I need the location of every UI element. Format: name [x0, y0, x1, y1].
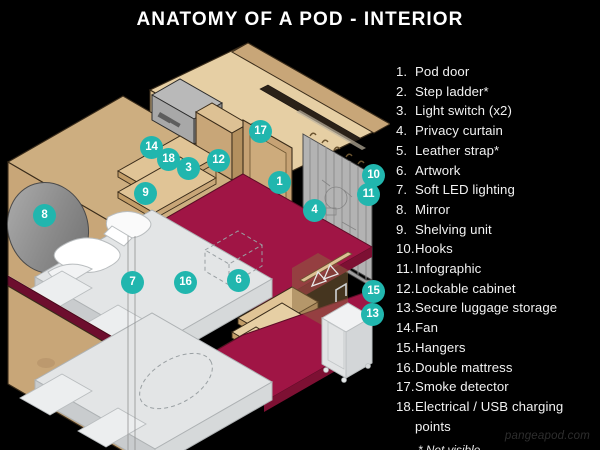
legend-item-label: Hooks — [415, 239, 600, 259]
marker-label: 15 — [367, 286, 379, 298]
marker-13[interactable]: 13 — [361, 303, 384, 326]
legend-item-number: 11. — [396, 259, 415, 279]
marker-label: 12 — [212, 155, 224, 167]
legend-item-number: 14. — [396, 318, 415, 338]
legend-item-number: 15. — [396, 338, 415, 358]
marker-label: 10 — [367, 170, 379, 182]
marker-label: 3 — [185, 163, 191, 175]
legend-item-number: 13. — [396, 298, 415, 318]
legend-item-label: Step ladder* — [415, 82, 600, 102]
legend-item-label: Infographic — [415, 259, 600, 279]
page-title: ANATOMY OF A POD - INTERIOR — [0, 9, 600, 31]
legend-item-label: Pod door — [415, 62, 600, 82]
marker-label: 13 — [366, 309, 378, 321]
legend-item: 6.Artwork — [396, 161, 600, 181]
marker-18[interactable]: 18 — [157, 148, 180, 171]
legend-item: 2.Step ladder* — [396, 82, 600, 102]
legend-item: 8.Mirror — [396, 200, 600, 220]
marker-4[interactable]: 4 — [303, 199, 326, 222]
legend-item-label: Artwork — [415, 161, 600, 181]
legend-item-label: Fan — [415, 318, 600, 338]
legend-item-number: 18. — [396, 397, 415, 436]
legend-item-label: Lockable cabinet — [415, 279, 600, 299]
legend-item-label: Leather strap* — [415, 141, 600, 161]
legend-item-number: 7. — [396, 180, 415, 200]
legend-list: 1.Pod door 2.Step ladder* 3.Light switch… — [396, 62, 600, 450]
marker-label: 14 — [145, 142, 157, 154]
legend-item-label: Light switch (x2) — [415, 101, 600, 121]
marker-label: 9 — [142, 188, 148, 200]
legend-item: 17.Smoke detector — [396, 377, 600, 397]
marker-label: 8 — [41, 210, 47, 222]
marker-7[interactable]: 7 — [121, 271, 144, 294]
legend-item-label: Secure luggage storage — [415, 298, 600, 318]
legend-item: 5.Leather strap* — [396, 141, 600, 161]
marker-11[interactable]: 11 — [357, 183, 380, 206]
legend-item: 9.Shelving unit — [396, 220, 600, 240]
marker-8[interactable]: 8 — [33, 204, 56, 227]
legend-item-label: Double mattress — [415, 358, 600, 378]
legend-item-number: 17. — [396, 377, 415, 397]
marker-9[interactable]: 9 — [134, 182, 157, 205]
legend-item-label: Shelving unit — [415, 220, 600, 240]
marker-label: 4 — [311, 205, 317, 217]
legend-item: 11.Infographic — [396, 259, 600, 279]
legend-item-number: 1. — [396, 62, 415, 82]
legend-item: 16.Double mattress — [396, 358, 600, 378]
pod-cutaway-svg — [0, 40, 390, 450]
legend-item-number: 10. — [396, 239, 415, 259]
legend-item-number: 2. — [396, 82, 415, 102]
legend-item-number: 5. — [396, 141, 415, 161]
marker-12[interactable]: 12 — [207, 149, 230, 172]
legend-item: 14.Fan — [396, 318, 600, 338]
legend-item-number: 12. — [396, 279, 415, 299]
legend-footnote: * Not visible — [418, 443, 600, 450]
legend-item-label: Privacy curtain — [415, 121, 600, 141]
legend-item-number: 6. — [396, 161, 415, 181]
legend-item-label: Soft LED lighting — [415, 180, 600, 200]
legend-item-number: 8. — [396, 200, 415, 220]
legend-item: 3.Light switch (x2) — [396, 101, 600, 121]
legend-item-number: 4. — [396, 121, 415, 141]
legend-item: 1.Pod door — [396, 62, 600, 82]
legend-item-number: 16. — [396, 358, 415, 378]
marker-label: 18 — [162, 154, 174, 166]
watermark: pangeapod.com — [505, 430, 590, 442]
legend-item-label: Smoke detector — [415, 377, 600, 397]
marker-6[interactable]: 6 — [227, 269, 250, 292]
legend-item-label: Mirror — [415, 200, 600, 220]
marker-label: 16 — [179, 277, 191, 289]
legend-item-label: Hangers — [415, 338, 600, 358]
marker-15[interactable]: 15 — [362, 280, 385, 303]
legend-item-number: 9. — [396, 220, 415, 240]
marker-label: 17 — [254, 126, 266, 138]
legend-item: 10.Hooks — [396, 239, 600, 259]
marker-label: 11 — [363, 189, 375, 201]
legend-item: 12.Lockable cabinet — [396, 279, 600, 299]
legend-item: 13.Secure luggage storage — [396, 298, 600, 318]
legend-item: 15.Hangers — [396, 338, 600, 358]
marker-16[interactable]: 16 — [174, 271, 197, 294]
marker-1[interactable]: 1 — [268, 171, 291, 194]
marker-3[interactable]: 3 — [177, 157, 200, 180]
pod-isometric-illustration: 1 3 4 6 7 8 9 10 11 12 13 14 15 16 17 18 — [0, 40, 390, 450]
marker-label: 1 — [276, 177, 282, 189]
legend-item: 7.Soft LED lighting — [396, 180, 600, 200]
legend-item-number: 3. — [396, 101, 415, 121]
marker-label: 7 — [129, 277, 135, 289]
marker-17[interactable]: 17 — [249, 120, 272, 143]
marker-label: 6 — [235, 275, 241, 287]
legend-item: 4.Privacy curtain — [396, 121, 600, 141]
